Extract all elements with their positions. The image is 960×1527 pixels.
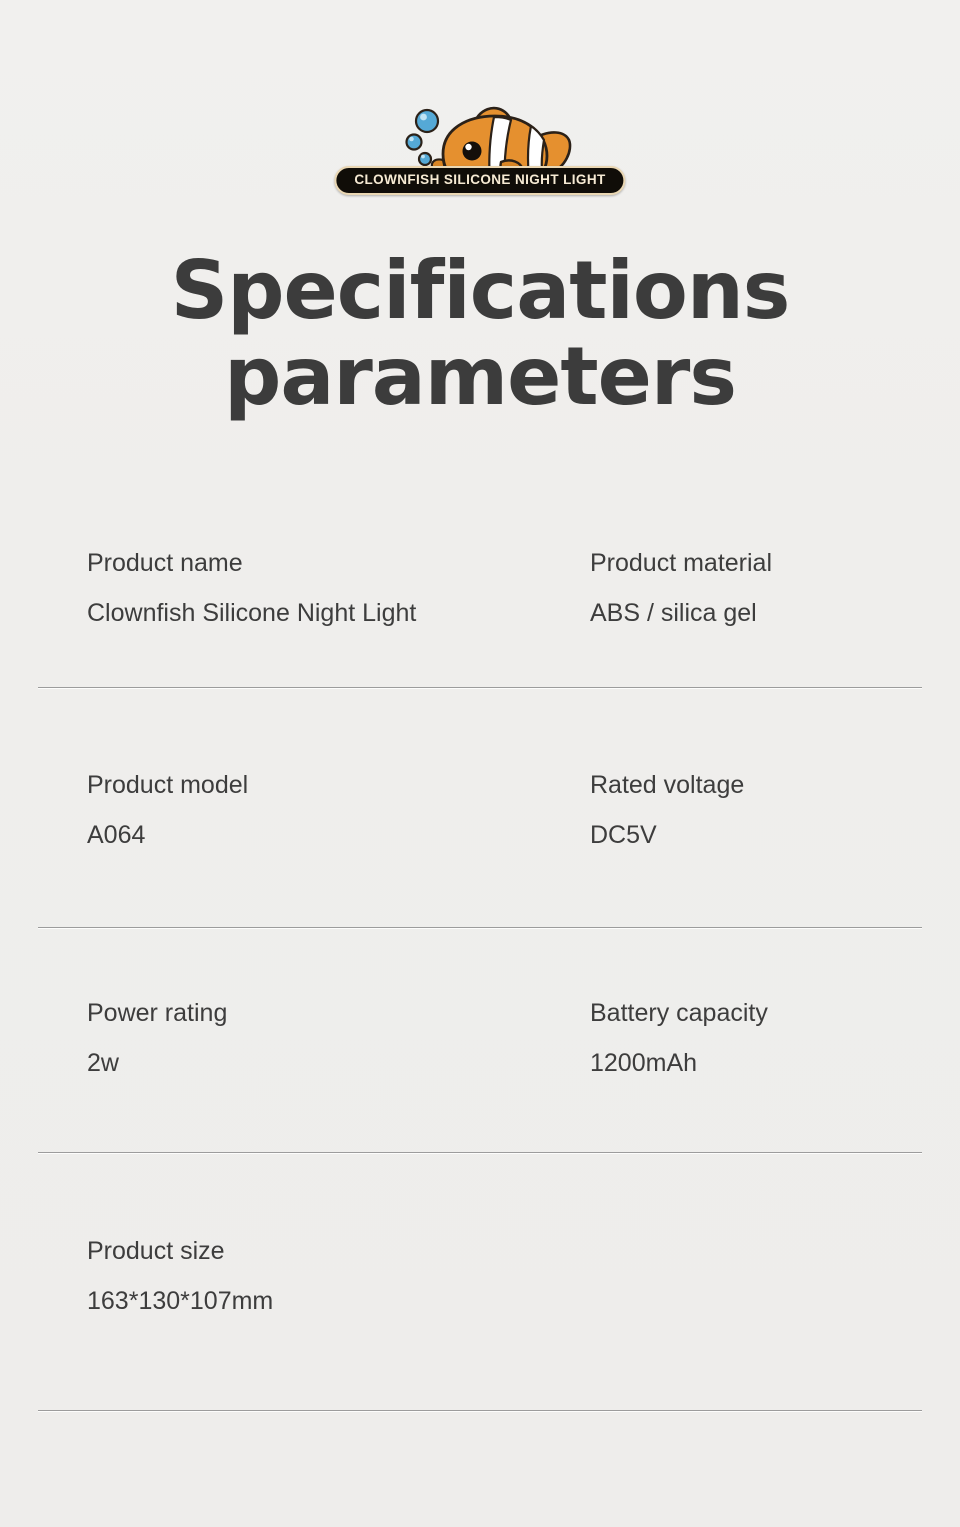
row-divider xyxy=(38,927,922,928)
spec-label: Product size xyxy=(87,1236,545,1266)
table-row: Product size 163*130*107mm xyxy=(0,1236,960,1316)
spec-cell-right: Battery capacity 1200mAh xyxy=(545,998,960,1078)
spec-label: Product model xyxy=(87,770,545,800)
spec-value: 2w xyxy=(87,1048,545,1078)
spec-label: Power rating xyxy=(87,998,545,1028)
spec-cell-left: Product size 163*130*107mm xyxy=(0,1236,545,1316)
spec-label: Rated voltage xyxy=(590,770,960,800)
page-title: Specifications parameters xyxy=(0,248,960,420)
page-title-line-2: parameters xyxy=(0,334,960,420)
table-row: Product name Clownfish Silicone Night Li… xyxy=(0,548,960,628)
spec-value: ABS / silica gel xyxy=(590,598,960,628)
spec-value: 163*130*107mm xyxy=(87,1286,545,1316)
bubbles-icon xyxy=(407,110,439,165)
row-divider xyxy=(38,1152,922,1153)
spec-value: DC5V xyxy=(590,820,960,850)
spec-cell-left: Product model A064 xyxy=(0,770,545,850)
spec-label: Product name xyxy=(87,548,545,578)
spec-cell-right xyxy=(545,1236,960,1256)
spec-cell-right: Product material ABS / silica gel xyxy=(545,548,960,628)
row-divider xyxy=(38,1410,922,1411)
spec-label: Product material xyxy=(590,548,960,578)
brand-badge-label: CLOWNFISH SILICONE NIGHT LIGHT xyxy=(354,172,605,188)
spec-label: Battery capacity xyxy=(590,998,960,1028)
specifications-page: CLOWNFISH SILICONE NIGHT LIGHT Specifica… xyxy=(0,0,960,1527)
spec-cell-left: Product name Clownfish Silicone Night Li… xyxy=(0,548,545,628)
brand-logo: CLOWNFISH SILICONE NIGHT LIGHT xyxy=(0,96,960,204)
spec-cell-left: Power rating 2w xyxy=(0,998,545,1078)
table-row: Power rating 2w Battery capacity 1200mAh xyxy=(0,998,960,1078)
spec-cell-right: Rated voltage DC5V xyxy=(545,770,960,850)
brand-badge: CLOWNFISH SILICONE NIGHT LIGHT xyxy=(334,166,625,195)
table-row: Product model A064 Rated voltage DC5V xyxy=(0,770,960,850)
page-title-line-1: Specifications xyxy=(0,248,960,334)
spec-value: A064 xyxy=(87,820,545,850)
spec-value: Clownfish Silicone Night Light xyxy=(87,598,545,628)
spec-value: 1200mAh xyxy=(590,1048,960,1078)
row-divider xyxy=(38,687,922,688)
